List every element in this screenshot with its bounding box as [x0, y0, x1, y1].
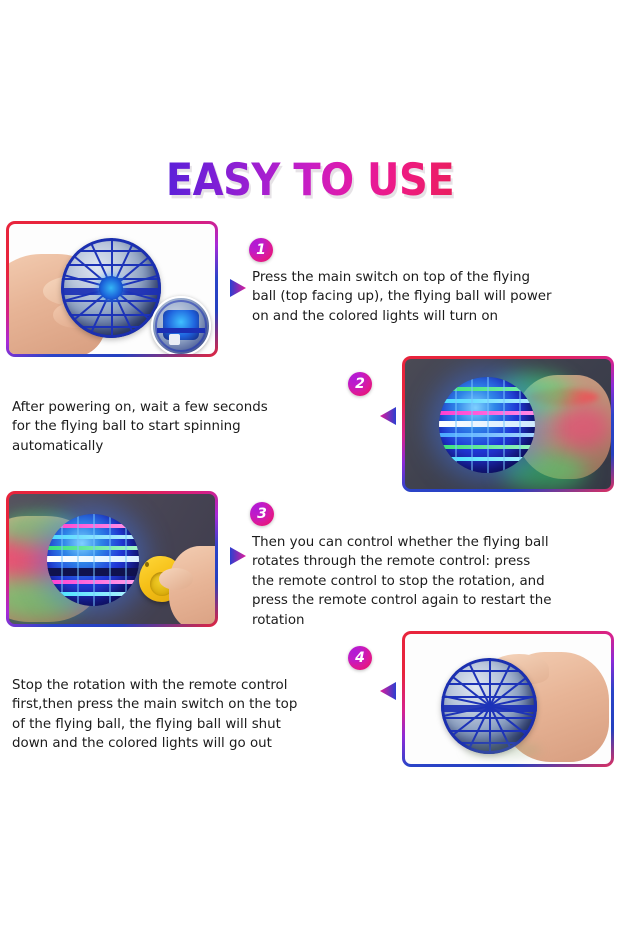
step-3-arrow-icon	[228, 545, 248, 567]
step-3-badge: 3	[250, 502, 274, 526]
step-1-photo-frame	[6, 221, 218, 357]
step-1-photo	[9, 224, 215, 354]
step-1-arrow-icon	[228, 277, 248, 299]
page-title-container: EASY TO USE	[0, 158, 620, 198]
step-4-badge: 4	[348, 646, 372, 670]
step-3-text: Then you can control whether the flying …	[252, 533, 604, 630]
flying-ball	[441, 658, 537, 754]
hand-fingertip	[159, 568, 193, 590]
detail-inset-circle	[151, 296, 211, 354]
step-1-text: Press the main switch on top of the flyi…	[252, 268, 600, 326]
step-2-text: After powering on, wait a few seconds fo…	[12, 398, 342, 456]
step-4-arrow-icon	[378, 680, 398, 702]
page-title: EASY TO USE	[166, 158, 454, 203]
step-2-arrow-icon	[378, 405, 398, 427]
step-1-badge: 1	[249, 238, 273, 262]
flying-ball	[61, 238, 161, 338]
step-3-photo	[9, 494, 215, 624]
remote-keyring-hole	[145, 562, 149, 567]
infographic-page: EASY TO USE	[0, 0, 620, 930]
step-2-photo	[405, 359, 611, 489]
step-2-badge: 2	[348, 372, 372, 396]
step-4-photo	[405, 634, 611, 764]
flying-ball-lit	[47, 514, 139, 606]
step-4-photo-frame	[402, 631, 614, 767]
step-3-photo-frame	[6, 491, 218, 627]
flying-ball-lit	[439, 377, 535, 473]
step-4-text: Stop the rotation with the remote contro…	[12, 676, 358, 754]
step-2-photo-frame	[402, 356, 614, 492]
